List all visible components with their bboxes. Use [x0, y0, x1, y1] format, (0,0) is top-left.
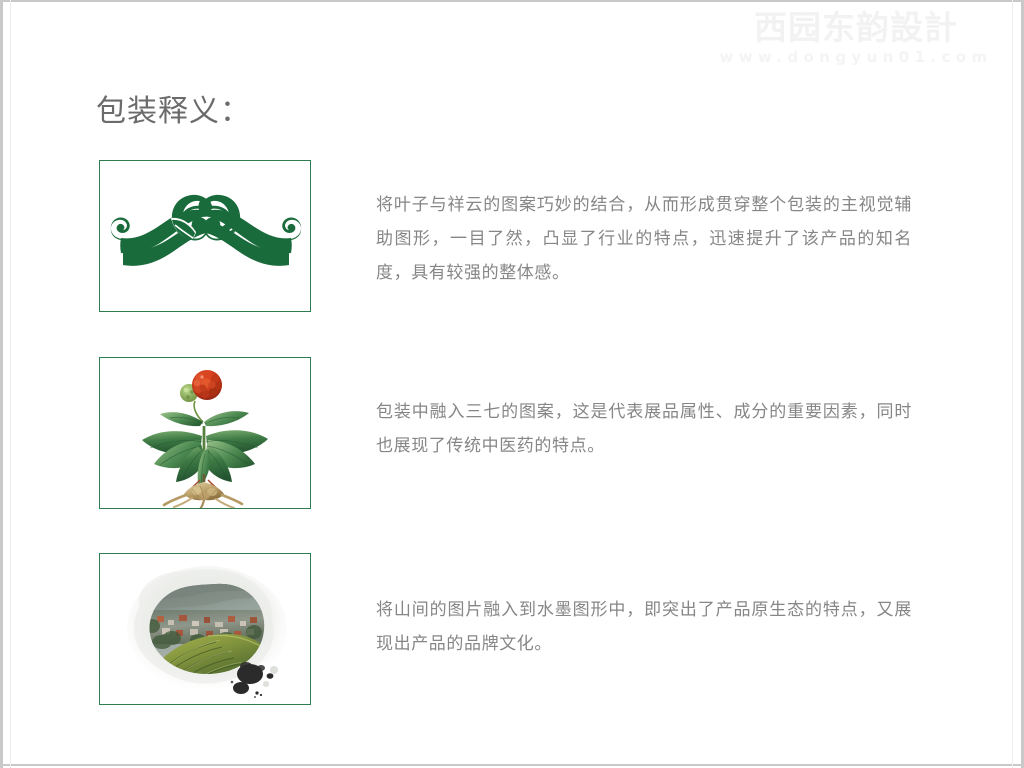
thumb-frame-inkwash[interactable]: [99, 553, 311, 705]
slide-page: 西园东韵設計 www.dongyun01.com 包装释义：: [0, 0, 1024, 768]
ornament-leaf-cloud-flourish-icon: [100, 161, 310, 311]
page-inner-rule-left: [10, 0, 11, 768]
thumb-frame-sanqi[interactable]: [99, 357, 311, 509]
page-title: 包装释义：: [96, 86, 251, 130]
page-border-top: [0, 0, 1024, 2]
section-description-inkwash: 将山间的图片融入到水墨图形中，即突出了产品原生态的特点，又展现出产品的品牌文化。: [376, 593, 912, 661]
sanqi-ginseng-plant-illustration-icon: [100, 358, 310, 508]
watermark-url: www.dongyun01.com: [700, 48, 1012, 66]
page-border-left: [0, 0, 3, 768]
section-description-ornament: 将叶子与祥云的图案巧妙的结合，从而形成贯穿整个包装的主视觉辅助图形，一目了然，凸…: [376, 188, 912, 290]
watermark: 西园东韵設計 www.dongyun01.com: [700, 8, 1012, 66]
ink-wash-mountain-village-scene-icon: [100, 554, 310, 704]
thumb-frame-ornament[interactable]: [99, 160, 311, 312]
watermark-brand: 西园东韵設計: [700, 8, 1012, 48]
page-inner-rule-right: [1012, 0, 1013, 768]
section-description-sanqi: 包装中融入三七的图案，这是代表展品属性、成分的重要因素，同时也展现了传统中医药的…: [376, 395, 912, 463]
page-border-bottom: [0, 764, 1024, 766]
